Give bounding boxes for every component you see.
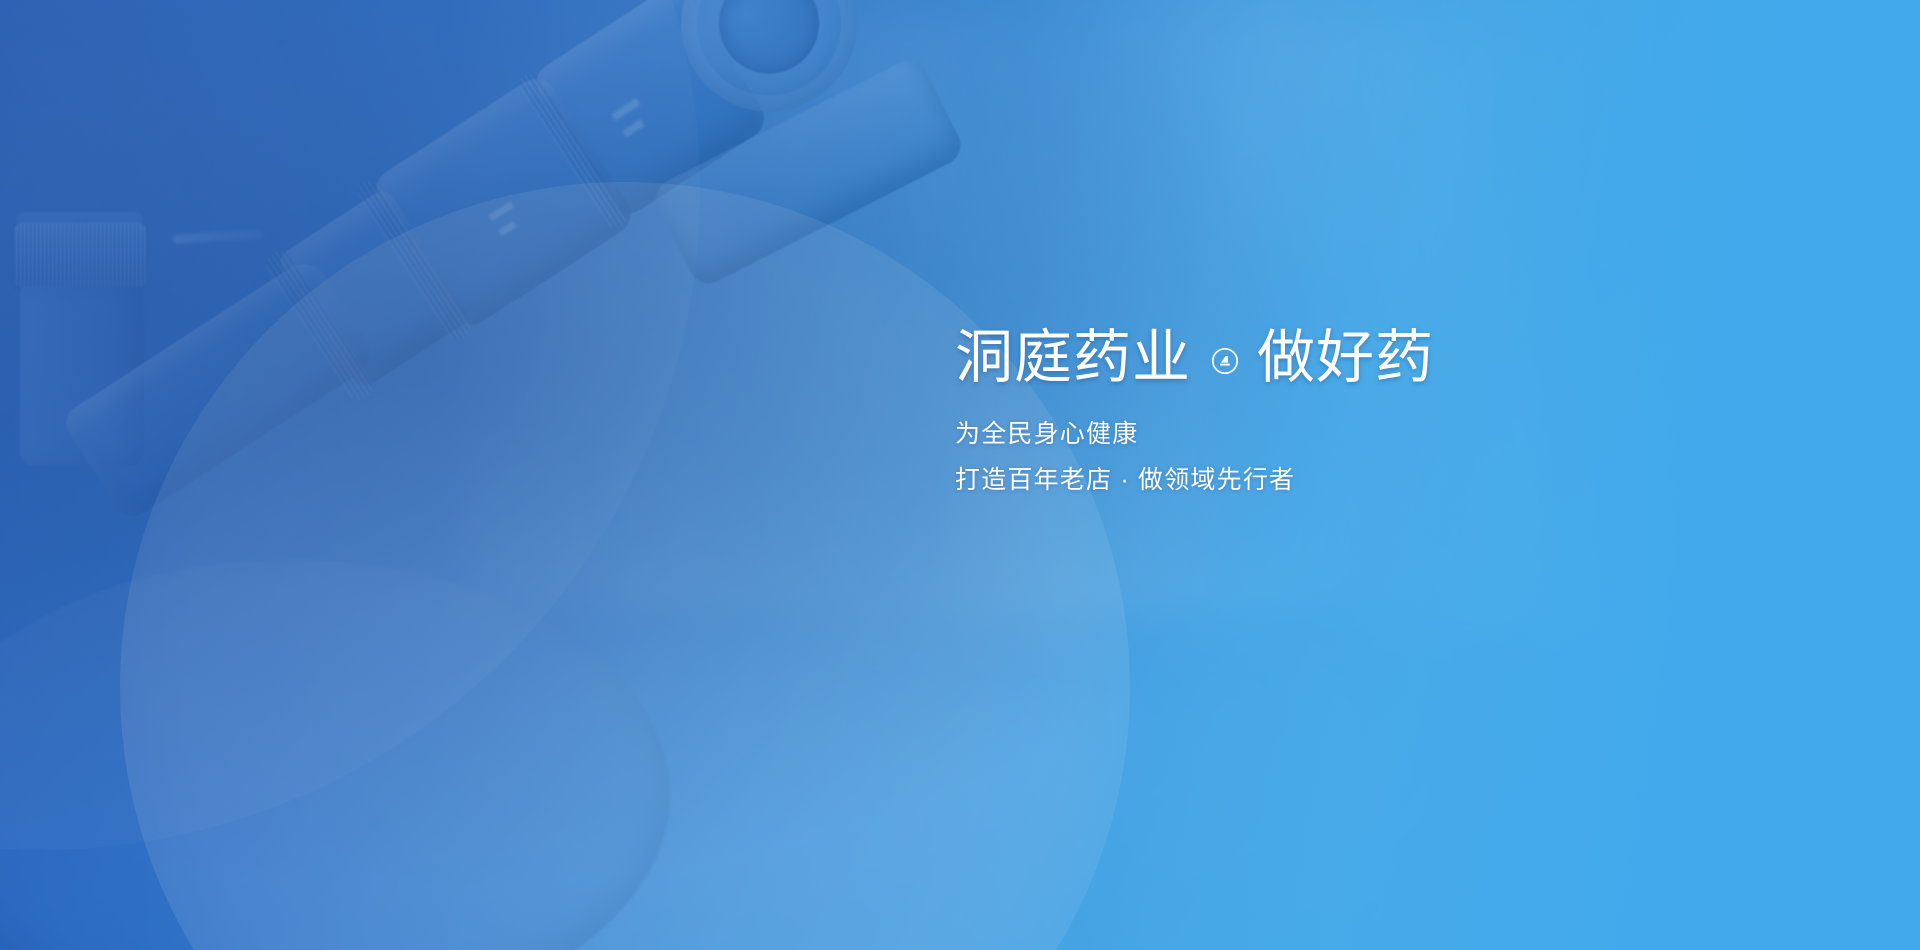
headline-brand-name: 洞庭药业 xyxy=(955,329,1191,387)
hero-headline: 洞庭药业 做好药 xyxy=(955,318,1655,398)
hero-subtitle-line-2: 打造百年老店 · 做领域先行者 xyxy=(955,468,1655,493)
hero-subtitle-line-1: 为全民身心健康 xyxy=(955,422,1655,447)
company-monogram-circle-icon xyxy=(1211,347,1239,375)
hero-banner: 洞庭药业 做好药 为全民身心健康 打造百年老店 · 做领域先行者 xyxy=(0,0,1920,950)
hero-copy-block: 洞庭药业 做好药 为全民身心健康 打造百年老店 · 做领域先行者 xyxy=(955,318,1655,493)
headline-slogan: 做好药 xyxy=(1257,329,1434,387)
